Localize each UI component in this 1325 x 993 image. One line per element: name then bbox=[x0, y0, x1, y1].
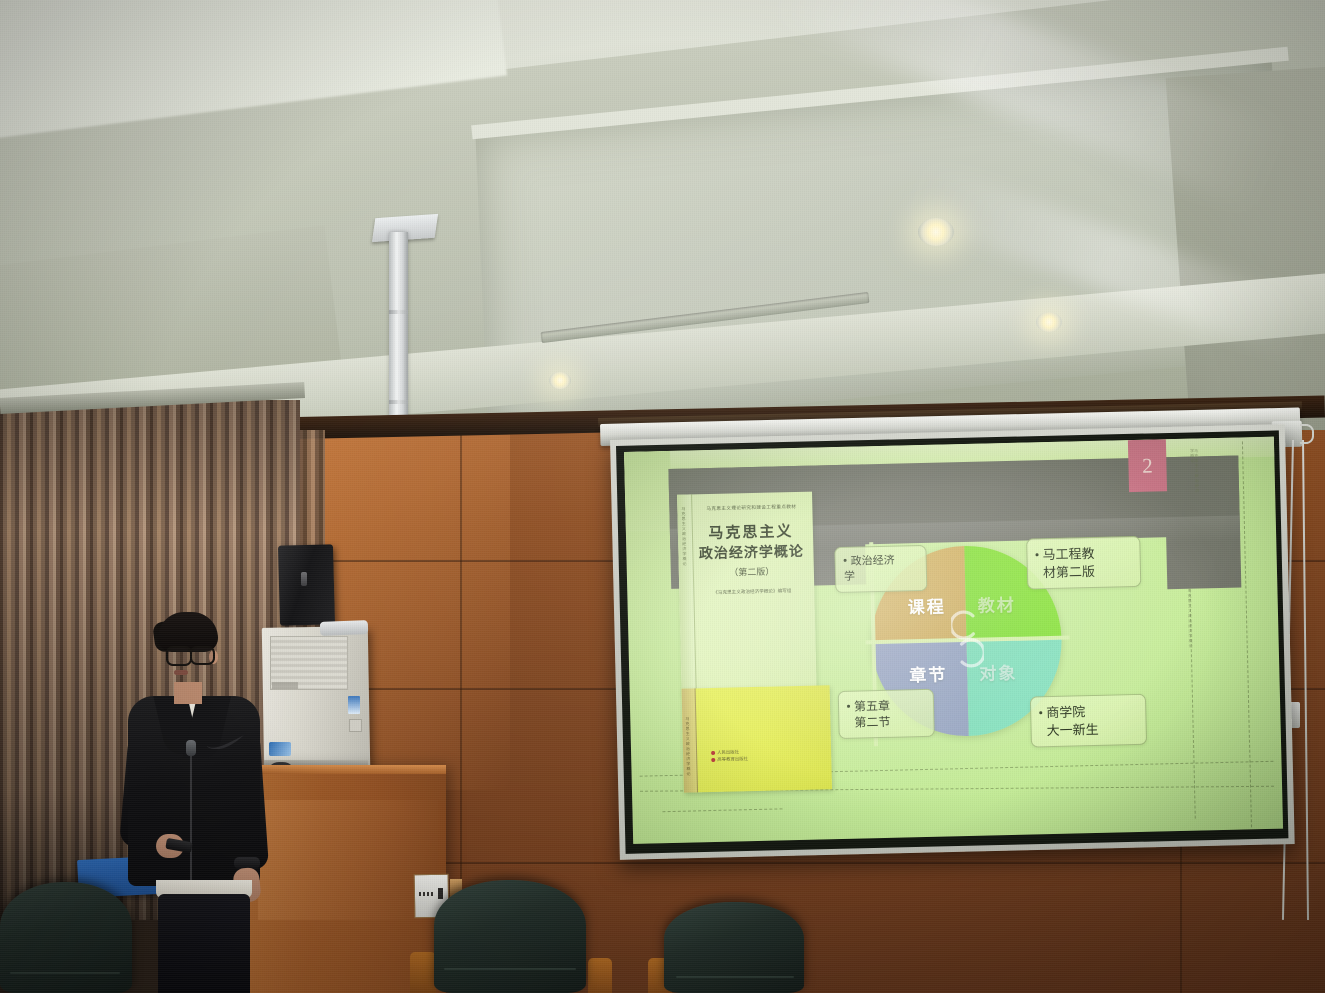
slide-side-decor-text: 马克思主义政治经济学概论 bbox=[1190, 448, 1199, 494]
chair-seam bbox=[444, 968, 576, 970]
lecture-room-photo: 2 马克思主义政治经济学概论 马克思主义政治经济学概论 马克思主义政治经济学概论… bbox=[0, 0, 1325, 993]
chair[interactable] bbox=[0, 882, 132, 993]
slide-left-margin bbox=[624, 451, 672, 532]
slide-guide-line bbox=[662, 808, 782, 812]
chair[interactable] bbox=[664, 902, 804, 993]
chair[interactable] bbox=[434, 880, 586, 993]
bullet-icon bbox=[844, 559, 847, 562]
nike-swoosh-logo-icon bbox=[206, 734, 246, 749]
projector-pole-ring bbox=[389, 400, 408, 404]
callout-course: 政治经济 学 bbox=[834, 545, 927, 593]
pc-warning-label bbox=[349, 719, 362, 732]
projector-pole-ring bbox=[389, 310, 408, 314]
downlight bbox=[918, 218, 954, 246]
projector-mount-pole bbox=[389, 232, 408, 438]
wheel-label-textbook: 教材 bbox=[977, 591, 1016, 617]
downlight bbox=[1036, 312, 1062, 332]
recycle-arrows-icon bbox=[951, 610, 984, 669]
projection-screen-surface: 2 马克思主义政治经济学概论 马克思主义政治经济学概论 马克思主义政治经济学概论… bbox=[624, 437, 1283, 844]
pc-energy-label bbox=[348, 696, 360, 714]
callout-chapter-line1: 第五章 bbox=[854, 699, 890, 714]
wheel-label-audience: 对象 bbox=[979, 659, 1018, 685]
chair-seam bbox=[676, 976, 794, 978]
chair-seam bbox=[10, 972, 120, 974]
textbook-edition: （第二版） bbox=[693, 564, 811, 580]
presenter-trousers bbox=[158, 894, 250, 993]
callout-textbook: 马工程教 材第二版 bbox=[1026, 536, 1141, 590]
eyeglasses-icon bbox=[190, 646, 215, 665]
slide-number: 2 bbox=[1128, 453, 1167, 479]
textbook-title-line2: 政治经济学概论 bbox=[688, 541, 814, 564]
tissue-pack bbox=[320, 620, 368, 636]
callout-audience-line2: 大一新生 bbox=[1046, 721, 1098, 737]
chair-armrest bbox=[410, 952, 436, 993]
speaker-badge bbox=[301, 572, 307, 586]
presenter-jacket-zip bbox=[190, 742, 192, 884]
eyeglasses-icon bbox=[166, 646, 192, 666]
bullet-icon bbox=[1039, 711, 1042, 714]
textbook-title-line1: 马克思主义 bbox=[692, 520, 810, 544]
textbook-back-cover-image bbox=[682, 685, 832, 792]
wheel-label-course: 课程 bbox=[907, 592, 946, 618]
callout-course-line1: 政治经济 bbox=[851, 555, 895, 568]
publisher-2: 高等教育出版社 bbox=[717, 756, 748, 762]
callout-audience: 商学院 大一新生 bbox=[1030, 694, 1147, 748]
bullet-icon bbox=[847, 705, 850, 708]
wall-plate-text bbox=[419, 892, 435, 896]
wall-plate-slot bbox=[438, 888, 443, 899]
chair-armrest bbox=[588, 958, 612, 993]
callout-chapter: 第五章 第二节 bbox=[838, 689, 935, 740]
bullet-icon bbox=[1036, 553, 1039, 556]
wheel-label-chapter: 章节 bbox=[909, 660, 948, 686]
presenter bbox=[110, 612, 290, 993]
downlight bbox=[549, 372, 571, 389]
callout-audience-line1: 商学院 bbox=[1046, 704, 1085, 720]
slide-guide-line bbox=[1242, 441, 1252, 827]
textbook-publishers: 人民出版社 高等教育出版社 bbox=[711, 748, 807, 764]
presenter-mouth bbox=[174, 670, 188, 675]
publisher-1: 人民出版社 bbox=[717, 749, 739, 755]
callout-textbook-line1: 马工程教 bbox=[1042, 546, 1094, 562]
callout-chapter-line2: 第二节 bbox=[854, 715, 890, 730]
eyeglasses-bridge bbox=[187, 650, 192, 652]
presenter-zipper-pull bbox=[186, 740, 196, 756]
callout-textbook-line2: 材第二版 bbox=[1043, 563, 1095, 579]
callout-course-line2: 学 bbox=[844, 570, 855, 582]
